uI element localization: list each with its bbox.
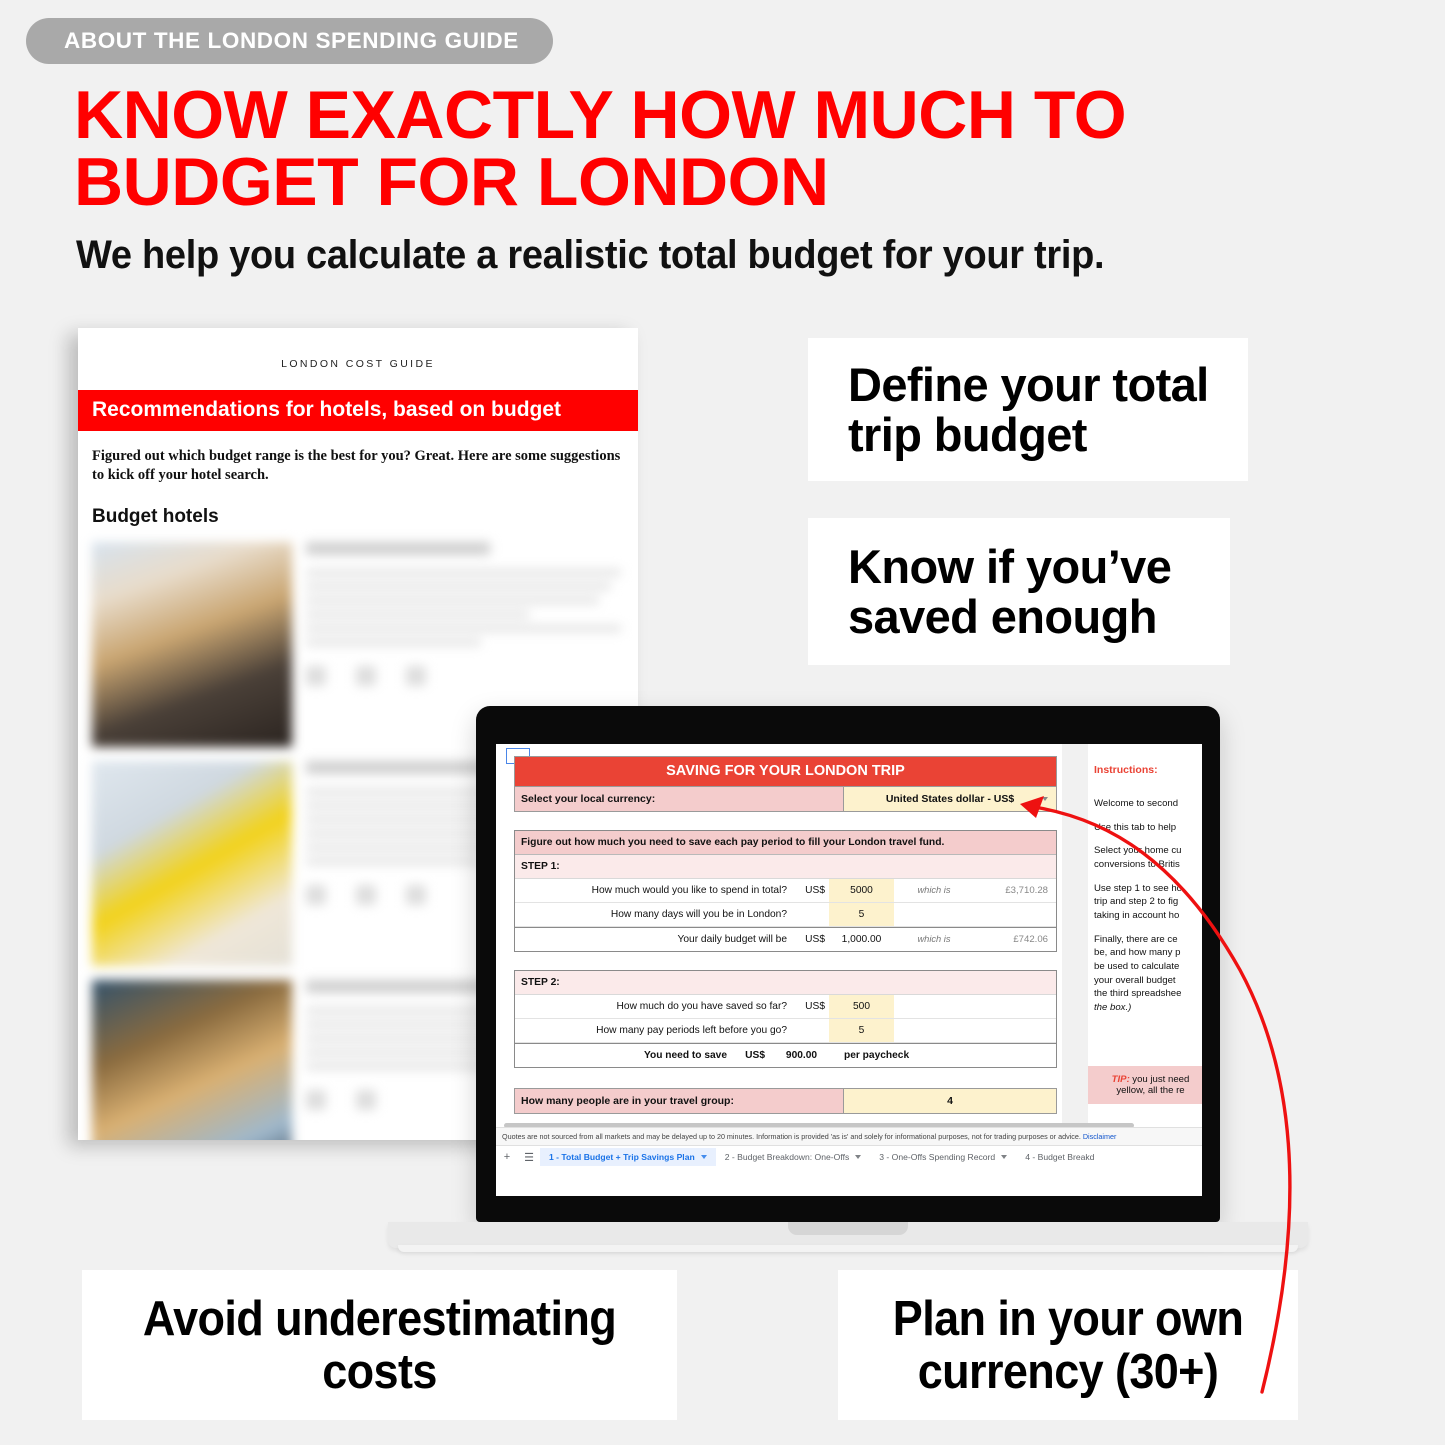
- tip-text-line2: yellow, all the re: [1094, 1085, 1202, 1096]
- step1-block: Figure out how much you need to save eac…: [514, 830, 1057, 952]
- row-currency: US$: [795, 995, 829, 1018]
- callout-text: Define your total trip budget: [848, 360, 1248, 460]
- row-input-value[interactable]: 5: [829, 1019, 894, 1042]
- instructions-paragraph: your overall budget: [1094, 975, 1202, 988]
- table-row: How many pay periods left before you go?…: [515, 1019, 1056, 1043]
- sheet-tab-4[interactable]: 4 - Budget Breakd: [1016, 1148, 1103, 1166]
- amenity-icon: [356, 666, 376, 686]
- sheet-tab-1[interactable]: 1 - Total Budget + Trip Savings Plan: [540, 1148, 716, 1166]
- row-question: How much would you like to spend in tota…: [515, 879, 795, 902]
- row-question: How many pay periods left before you go?: [515, 1019, 795, 1042]
- table-row: How much would you like to spend in tota…: [515, 879, 1056, 903]
- instructions-paragraph: the third spreadshee: [1094, 988, 1202, 1001]
- laptop-foot: [398, 1245, 1298, 1252]
- row-gbp-value: £742.06: [974, 928, 1056, 951]
- row-gbp-value: £3,710.28: [974, 879, 1056, 902]
- row-spacer: [894, 1019, 974, 1042]
- row-input-value[interactable]: 5: [829, 903, 894, 926]
- document-paragraph: Figured out which budget range is the be…: [92, 447, 624, 484]
- instructions-paragraph: Select your home cu: [1094, 845, 1202, 858]
- travel-group-label: How many people are in your travel group…: [515, 1089, 844, 1113]
- row-question: How many days will you be in London?: [515, 903, 795, 926]
- amenity-icon: [406, 666, 426, 686]
- text-line: [306, 611, 529, 618]
- hotel-thumbnail-image: [92, 761, 292, 966]
- instructions-paragraph: Use step 1 to see ho: [1094, 883, 1202, 896]
- add-sheet-icon[interactable]: +: [496, 1151, 518, 1163]
- text-line: [306, 639, 481, 646]
- row-result-value: 1,000.00: [829, 928, 894, 951]
- hotel-amenity-icons: [306, 666, 624, 686]
- currency-value: United States dollar - US$: [886, 793, 1014, 805]
- document-section-heading: Budget hotels: [92, 506, 638, 528]
- hotel-name-placeholder: [306, 542, 490, 555]
- row-currency: [795, 903, 829, 926]
- row-input-value[interactable]: 5000: [829, 879, 894, 902]
- row-which-is: which is: [894, 928, 974, 951]
- table-row: How many days will you be in London? 5: [515, 903, 1056, 927]
- eyebrow-pill: ABOUT THE LONDON SPENDING GUIDE: [26, 18, 553, 64]
- tip-text: you just need: [1132, 1074, 1189, 1085]
- currency-label: Select your local currency:: [515, 787, 844, 811]
- currency-select-row: Select your local currency: United State…: [514, 786, 1057, 812]
- callout-saved-enough: Know if you’ve saved enough: [808, 518, 1230, 665]
- eyebrow-label: ABOUT THE LONDON SPENDING GUIDE: [64, 28, 519, 54]
- amenity-icon: [356, 1090, 376, 1110]
- instructions-paragraph: Use this tab to help: [1094, 822, 1202, 835]
- instructions-panel: Instructions: Welcome to second Use this…: [1088, 756, 1202, 1141]
- row-spacer: [894, 995, 974, 1018]
- chevron-down-icon: [1042, 797, 1048, 801]
- callout-text: Plan in your own currency (30+): [838, 1293, 1298, 1398]
- spreadsheet-main-column: SAVING FOR YOUR LONDON TRIP Select your …: [514, 756, 1057, 1114]
- sheet-tab-3[interactable]: 3 - One-Offs Spending Record: [870, 1148, 1016, 1166]
- sheet-tab-label: 2 - Budget Breakdown: One-Offs: [725, 1152, 850, 1162]
- laptop-notch: [788, 1222, 908, 1235]
- callout-text: Avoid underestimating costs: [82, 1293, 677, 1398]
- sheet-tab-label: 4 - Budget Breakd: [1025, 1152, 1094, 1162]
- sheet-tab-2[interactable]: 2 - Budget Breakdown: One-Offs: [716, 1148, 871, 1166]
- travel-group-input[interactable]: 4: [844, 1089, 1056, 1113]
- table-row: You need to save US$ 900.00 per paycheck: [515, 1043, 1056, 1067]
- instructions-paragraph: taking in account ho: [1094, 910, 1202, 923]
- disclaimer-text: Quotes are not sourced from all markets …: [502, 1132, 1081, 1141]
- table-row: Your daily budget will be US$ 1,000.00 w…: [515, 927, 1056, 951]
- row-currency: US$: [795, 879, 829, 902]
- row-gbp-value: [974, 903, 1056, 926]
- row-currency: US$: [795, 928, 829, 951]
- instructions-paragraph: Welcome to second: [1094, 798, 1202, 811]
- laptop-screen: SAVING FOR YOUR LONDON TRIP Select your …: [496, 744, 1202, 1196]
- callout-avoid-underestimating: Avoid underestimating costs: [82, 1270, 677, 1420]
- all-sheets-menu-icon[interactable]: ☰: [518, 1151, 540, 1164]
- instructions-paragraph: be, and how many p: [1094, 947, 1202, 960]
- intro-band: Figure out how much you need to save eac…: [515, 831, 1056, 855]
- instructions-card: Instructions: Welcome to second Use this…: [1088, 756, 1202, 1040]
- instructions-paragraph: Finally, there are ce: [1094, 934, 1202, 947]
- row-result-value: 900.00: [769, 1044, 834, 1067]
- step2-label: STEP 2:: [515, 971, 1056, 995]
- instructions-paragraph: trip and step 2 to fig: [1094, 896, 1202, 909]
- instructions-paragraph: be used to calculate: [1094, 961, 1202, 974]
- row-question: You need to save: [515, 1044, 735, 1067]
- instructions-paragraph: the box.): [1094, 1002, 1202, 1015]
- chevron-down-icon[interactable]: [1001, 1155, 1007, 1159]
- chevron-down-icon[interactable]: [855, 1155, 861, 1159]
- callout-text: Know if you’ve saved enough: [848, 542, 1230, 642]
- document-kicker: LONDON COST GUIDE: [78, 358, 638, 370]
- sheet-title-banner: SAVING FOR YOUR LONDON TRIP: [514, 756, 1057, 786]
- chevron-down-icon[interactable]: [701, 1155, 707, 1159]
- row-spacer: [974, 1019, 1056, 1042]
- sheet-gutter: [1062, 744, 1088, 1168]
- text-line: [306, 569, 621, 576]
- sheet-tab-label: 1 - Total Budget + Trip Savings Plan: [549, 1152, 695, 1162]
- spreadsheet-canvas: SAVING FOR YOUR LONDON TRIP Select your …: [496, 744, 1202, 1168]
- text-line: [306, 625, 621, 632]
- text-line: [306, 597, 599, 604]
- amenity-icon: [306, 885, 326, 905]
- sheet-tab-bar: + ☰ 1 - Total Budget + Trip Savings Plan…: [496, 1146, 1202, 1168]
- step1-label: STEP 1:: [515, 855, 1056, 879]
- headline-line-1: KNOW EXACTLY HOW MUCH TO: [74, 77, 1126, 153]
- text-line: [306, 583, 611, 590]
- row-question: How much do you have saved so far?: [515, 995, 795, 1018]
- step2-block: STEP 2: How much do you have saved so fa…: [514, 970, 1057, 1068]
- row-input-value[interactable]: 500: [829, 995, 894, 1018]
- amenity-icon: [306, 1090, 326, 1110]
- hotel-thumbnail-image: [92, 980, 292, 1140]
- laptop-mockup: SAVING FOR YOUR LONDON TRIP Select your …: [388, 706, 1308, 1246]
- travel-group-row: How many people are in your travel group…: [514, 1088, 1057, 1114]
- sheet-tab-label: 3 - One-Offs Spending Record: [879, 1152, 995, 1162]
- amenity-icon: [356, 885, 376, 905]
- callout-plan-own-currency: Plan in your own currency (30+): [838, 1270, 1298, 1420]
- callout-define-budget: Define your total trip budget: [808, 338, 1248, 481]
- hotel-thumbnail-image: [92, 542, 292, 747]
- tip-box-primary: TIP: you just need yellow, all the re: [1088, 1066, 1202, 1104]
- row-which-is: [894, 903, 974, 926]
- row-spacer: [974, 995, 1056, 1018]
- currency-dropdown[interactable]: United States dollar - US$: [844, 787, 1056, 811]
- disclaimer-link[interactable]: Disclaimer: [1083, 1132, 1117, 1141]
- page-subtitle: We help you calculate a realistic total …: [76, 233, 1236, 279]
- spreadsheet-app: SAVING FOR YOUR LONDON TRIP Select your …: [496, 744, 1202, 1196]
- row-note: per paycheck: [834, 1044, 1056, 1067]
- headline-line-2: BUDGET FOR LONDON: [74, 149, 1194, 216]
- disclaimer-bar: Quotes are not sourced from all markets …: [496, 1127, 1202, 1146]
- amenity-icon: [306, 666, 326, 686]
- row-currency: [795, 1019, 829, 1042]
- document-banner: Recommendations for hotels, based on bud…: [78, 390, 638, 431]
- row-question: Your daily budget will be: [515, 928, 795, 951]
- tip-label: TIP:: [1112, 1074, 1130, 1085]
- instructions-title: Instructions:: [1094, 764, 1202, 776]
- row-which-is: which is: [894, 879, 974, 902]
- page-title: KNOW EXACTLY HOW MUCH TO BUDGET FOR LOND…: [74, 82, 1194, 217]
- instructions-paragraph: conversions to Britis: [1094, 859, 1202, 872]
- row-currency: US$: [735, 1044, 769, 1067]
- table-row: How much do you have saved so far? US$ 5…: [515, 995, 1056, 1019]
